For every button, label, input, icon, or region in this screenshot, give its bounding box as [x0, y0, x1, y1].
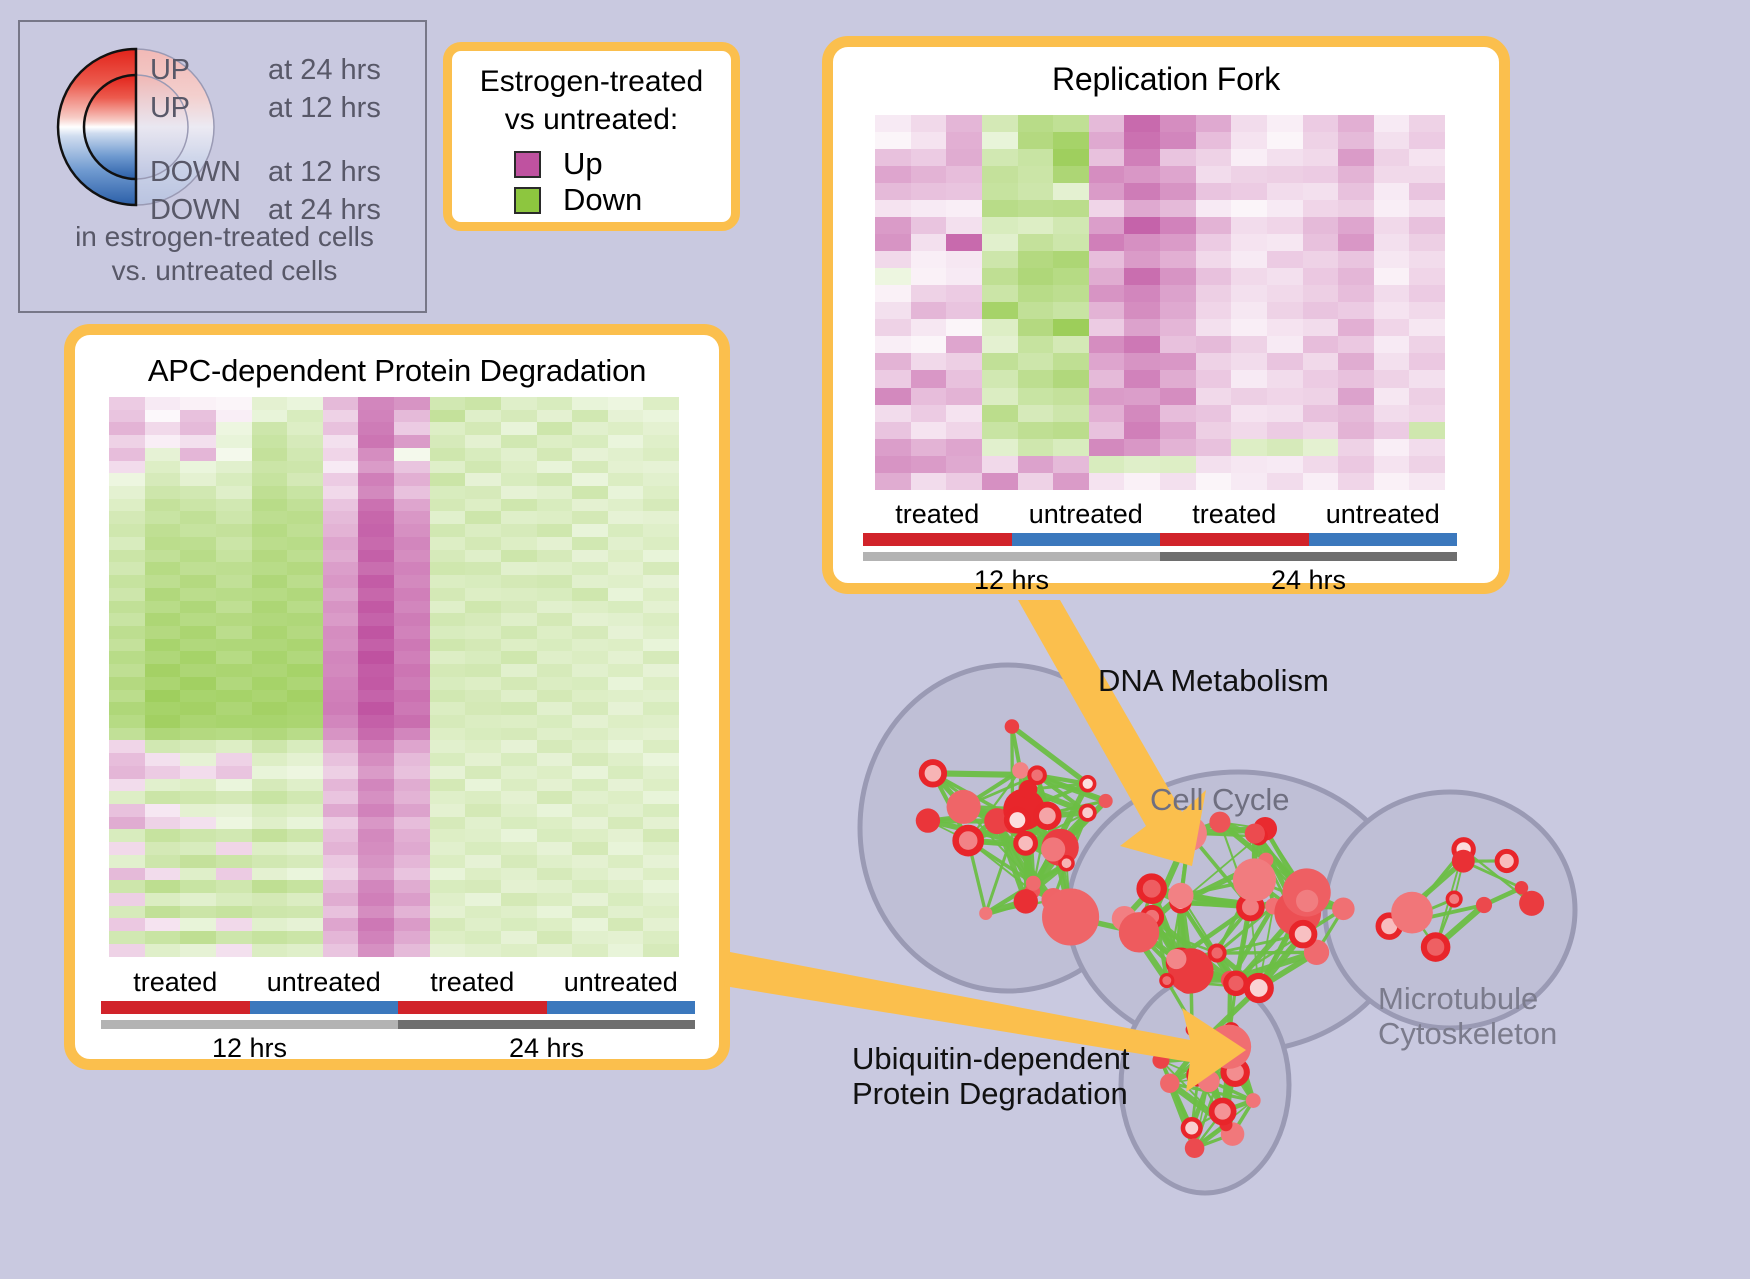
heatmap-cell	[1231, 149, 1267, 166]
heatmap-cell	[1196, 405, 1232, 422]
heatmap-cell	[465, 931, 501, 944]
heatmap-cell	[180, 486, 216, 499]
network-node[interactable]	[1296, 890, 1318, 912]
heatmap-cell	[1267, 353, 1303, 370]
network-node[interactable]	[1036, 805, 1059, 828]
heatmap-cell	[394, 918, 430, 931]
heatmap-cell	[252, 753, 288, 766]
heatmap-cell	[608, 626, 644, 639]
heatmap-cell	[911, 200, 947, 217]
heatmap-cell	[1303, 473, 1339, 490]
heatmap-cell	[430, 397, 466, 410]
heatmap-cell	[1374, 336, 1410, 353]
heatmap-cell	[109, 461, 145, 474]
down-swatch-icon	[514, 187, 541, 214]
heatmap-cell	[982, 268, 1018, 285]
heatmap-cell	[145, 461, 181, 474]
heatmap-cell	[982, 166, 1018, 183]
heatmap-column	[1196, 115, 1232, 490]
heatmap-cell	[946, 422, 982, 439]
heatmap-cell	[180, 906, 216, 919]
heatmap-cell	[465, 486, 501, 499]
network-node[interactable]	[1452, 850, 1475, 873]
heatmap-cell	[180, 918, 216, 931]
heatmap-cell	[323, 753, 359, 766]
heatmap-cell	[1267, 388, 1303, 405]
network-node[interactable]	[1081, 777, 1095, 791]
heatmap-cell	[643, 906, 679, 919]
heatmap-cell	[1089, 183, 1125, 200]
heatmap-cell	[1409, 388, 1445, 405]
network-node[interactable]	[1198, 1070, 1220, 1092]
heatmap-cell	[1338, 149, 1374, 166]
up-down-legend: Estrogen-treated vs untreated: Up Down	[443, 42, 740, 231]
network-node[interactable]	[1332, 898, 1355, 921]
heatmap-cell	[1124, 285, 1160, 302]
time-color-bar	[863, 552, 1457, 561]
heatmap-cell	[394, 868, 430, 881]
heatmap-cell	[465, 791, 501, 804]
heatmap-cell	[572, 473, 608, 486]
network-node[interactable]	[956, 828, 981, 853]
heatmap-cell	[216, 448, 252, 461]
heatmap-cell	[572, 829, 608, 842]
heatmap-cell	[1409, 319, 1445, 336]
network-node[interactable]	[1447, 892, 1461, 906]
heatmap-cell	[358, 537, 394, 550]
heatmap-cell	[572, 550, 608, 563]
heatmap-cell	[608, 855, 644, 868]
heatmap-cell	[394, 410, 430, 423]
heatmap-cell	[180, 753, 216, 766]
heatmap-cell	[216, 804, 252, 817]
group-color-bar	[101, 1001, 695, 1014]
heatmap-cell	[875, 319, 911, 336]
network-node[interactable]	[1140, 877, 1164, 901]
heatmap-cell	[216, 461, 252, 474]
heatmap-cell	[1231, 234, 1267, 251]
heatmap-cell	[1089, 251, 1125, 268]
heatmap-cell	[1303, 217, 1339, 234]
network-node[interactable]	[1519, 891, 1544, 916]
heatmap-cell	[911, 456, 947, 473]
heatmap-cell	[109, 766, 145, 779]
network-node[interactable]	[1014, 889, 1038, 913]
heatmap-cell	[394, 397, 430, 410]
network-node[interactable]	[1168, 883, 1194, 909]
network-node[interactable]	[1007, 809, 1028, 830]
heatmap-column	[1089, 115, 1125, 490]
heatmap-cell	[1303, 353, 1339, 370]
heatmap-cell	[875, 388, 911, 405]
heatmap-cell	[1409, 115, 1445, 132]
network-node[interactable]	[1026, 876, 1041, 891]
heatmap-cell	[1018, 370, 1054, 387]
network-node[interactable]	[922, 762, 944, 784]
heatmap-cell	[394, 791, 430, 804]
heatmap-cell	[946, 319, 982, 336]
group-color-segment	[398, 1001, 547, 1014]
heatmap-cell	[287, 562, 323, 575]
heatmap-cell	[911, 217, 947, 234]
heatmap-cell	[1267, 336, 1303, 353]
heatmap-cell	[537, 664, 573, 677]
heatmap-cell	[1267, 166, 1303, 183]
heatmap-column	[572, 397, 608, 957]
heatmap-cell	[1089, 336, 1125, 353]
heatmap-cell	[394, 715, 430, 728]
network-node[interactable]	[1186, 1023, 1199, 1036]
heatmap-cell	[946, 388, 982, 405]
heatmap-cell	[1196, 473, 1232, 490]
heatmap-cell	[608, 931, 644, 944]
network-node[interactable]	[1005, 719, 1020, 734]
network-node[interactable]	[1292, 923, 1315, 946]
heatmap-cell	[145, 868, 181, 881]
heatmap-cell	[1018, 302, 1054, 319]
heatmap-cell	[180, 880, 216, 893]
up-down-title-line1: Estrogen-treated	[452, 63, 731, 101]
network-node[interactable]	[1029, 767, 1045, 783]
heatmap-cell	[252, 575, 288, 588]
heatmap-cell	[537, 817, 573, 830]
heatmap-cell	[1018, 115, 1054, 132]
heatmap-cell	[109, 829, 145, 842]
network-node[interactable]	[1171, 816, 1206, 851]
heatmap-cell	[252, 550, 288, 563]
heatmap-cell	[537, 791, 573, 804]
network-node[interactable]	[1160, 1074, 1179, 1093]
heatmap-cell	[643, 893, 679, 906]
network-node[interactable]	[1476, 897, 1492, 913]
heatmap-column	[1160, 115, 1196, 490]
heatmap-cell	[1018, 285, 1054, 302]
network-node[interactable]	[1099, 794, 1113, 808]
heatmap-cell	[465, 511, 501, 524]
heatmap-cell	[875, 456, 911, 473]
heatmap-cell	[1018, 200, 1054, 217]
heatmap-cell	[1089, 302, 1125, 319]
heatmap-cell	[572, 779, 608, 792]
heatmap-cell	[358, 906, 394, 919]
heatmap-cell	[1018, 183, 1054, 200]
heatmap-cell	[1018, 217, 1054, 234]
network-node[interactable]	[1246, 1093, 1261, 1108]
heatmap-cell	[608, 601, 644, 614]
network-node[interactable]	[1226, 973, 1246, 993]
heatmap-cell	[608, 804, 644, 817]
heatmap-cell	[109, 753, 145, 766]
heatmap-cell	[946, 166, 982, 183]
network-node[interactable]	[1166, 949, 1186, 969]
wheel-row-key: UP	[150, 54, 268, 87]
heatmap-cell	[1160, 217, 1196, 234]
network-node[interactable]	[1210, 945, 1225, 960]
heatmap-cell	[1160, 473, 1196, 490]
heatmap-cell	[180, 702, 216, 715]
heatmap-cell	[465, 766, 501, 779]
heatmap-cell	[501, 397, 537, 410]
heatmap-cell	[252, 410, 288, 423]
heatmap-cell	[608, 651, 644, 664]
heatmap-cell	[394, 728, 430, 741]
heatmap-cell	[180, 740, 216, 753]
network-node[interactable]	[1497, 851, 1516, 870]
heatmap-cell	[358, 804, 394, 817]
heatmap-cell	[1124, 319, 1160, 336]
heatmap-cell	[537, 486, 573, 499]
heatmap-cell	[1267, 473, 1303, 490]
network-node[interactable]	[1060, 857, 1073, 870]
network-node[interactable]	[1041, 837, 1065, 861]
heatmap-cell	[501, 448, 537, 461]
heatmap-cell	[394, 664, 430, 677]
heatmap-cell	[145, 410, 181, 423]
group-label: treated	[1160, 497, 1309, 531]
heatmap-cell	[643, 486, 679, 499]
heatmap-cell	[252, 944, 288, 957]
heatmap-cell	[323, 461, 359, 474]
heatmap-cell	[252, 626, 288, 639]
heatmap-cell	[430, 461, 466, 474]
heatmap-cell	[982, 115, 1018, 132]
cluster-label-microtubule-cytoskeleton: Microtubule Cytoskeleton	[1378, 982, 1557, 1051]
heatmap-cell	[982, 183, 1018, 200]
heatmap-cell	[394, 651, 430, 664]
heatmap-cell	[572, 601, 608, 614]
time-label: 12 hrs	[101, 1033, 398, 1064]
heatmap-cell	[643, 448, 679, 461]
network-node[interactable]	[1424, 935, 1447, 958]
network-node[interactable]	[1185, 1138, 1205, 1158]
heatmap-cell	[465, 562, 501, 575]
heatmap-cell	[572, 639, 608, 652]
heatmap-cell	[608, 740, 644, 753]
heatmap-cell	[109, 613, 145, 626]
heatmap-cell	[252, 855, 288, 868]
heatmap-cell	[1089, 149, 1125, 166]
heatmap-cell	[501, 791, 537, 804]
heatmap-cell	[323, 715, 359, 728]
heatmap-cell	[323, 779, 359, 792]
network-node[interactable]	[1247, 976, 1271, 1000]
heatmap-cell	[180, 677, 216, 690]
heatmap-cell	[216, 868, 252, 881]
network-node[interactable]	[1080, 805, 1094, 819]
heatmap-cell	[465, 651, 501, 664]
heatmap-cell	[394, 499, 430, 512]
heatmap-cell	[109, 906, 145, 919]
network-node[interactable]	[1161, 975, 1173, 987]
heatmap-cell	[394, 486, 430, 499]
heatmap-cell	[982, 336, 1018, 353]
network-node[interactable]	[1245, 823, 1265, 843]
heatmap-cell	[394, 804, 430, 817]
heatmap-cell	[216, 550, 252, 563]
heatmap-cell	[465, 868, 501, 881]
heatmap-cell	[323, 868, 359, 881]
time-color-segment	[101, 1020, 398, 1029]
heatmap-cell	[430, 690, 466, 703]
network-node[interactable]	[1207, 1025, 1251, 1069]
heatmap-cell	[1124, 149, 1160, 166]
heatmap-cell	[537, 499, 573, 512]
heatmap-cell	[323, 829, 359, 842]
heatmap-cell	[287, 601, 323, 614]
time-color-segment	[1160, 552, 1457, 561]
heatmap-cell	[252, 435, 288, 448]
heatmap-cell	[180, 537, 216, 550]
heatmap-cell	[608, 422, 644, 435]
heatmap-cell	[572, 397, 608, 410]
heatmap-cell	[1409, 422, 1445, 439]
heatmap-cell	[216, 422, 252, 435]
heatmap-cell	[1338, 285, 1374, 302]
heatmap-cell	[1374, 353, 1410, 370]
network-node[interactable]	[1152, 1052, 1169, 1069]
heatmap-cell	[287, 690, 323, 703]
heatmap-cell	[465, 677, 501, 690]
heatmap-cell	[358, 651, 394, 664]
network-node[interactable]	[1391, 892, 1433, 934]
network-node[interactable]	[1119, 912, 1159, 952]
network-node[interactable]	[1183, 1119, 1201, 1137]
heatmap-cell	[252, 842, 288, 855]
heatmap-cell	[145, 601, 181, 614]
heatmap-cell	[216, 753, 252, 766]
heatmap-cell	[572, 740, 608, 753]
heatmap-cell	[465, 944, 501, 957]
heatmap-cell	[501, 893, 537, 906]
heatmap-cell	[323, 601, 359, 614]
cluster-label-cell-cycle: Cell Cycle	[1150, 783, 1290, 818]
heatmap-cell	[1267, 302, 1303, 319]
heatmap-cell	[911, 268, 947, 285]
heatmap-cell	[323, 639, 359, 652]
heatmap-cell	[608, 829, 644, 842]
heatmap-cell	[537, 613, 573, 626]
heatmap-cell	[537, 448, 573, 461]
heatmap-cell	[875, 268, 911, 285]
heatmap-cell	[287, 944, 323, 957]
heatmap-cell	[145, 397, 181, 410]
heatmap-cell	[430, 791, 466, 804]
heatmap-cell	[287, 893, 323, 906]
heatmap-cell	[608, 537, 644, 550]
heatmap-cell	[1303, 319, 1339, 336]
heatmap-cell	[180, 524, 216, 537]
heatmap-cell	[982, 388, 1018, 405]
heatmap-cell	[875, 200, 911, 217]
heatmap-cell	[572, 448, 608, 461]
heatmap-cell	[287, 918, 323, 931]
heatmap-cell	[145, 588, 181, 601]
heatmap-cell	[501, 651, 537, 664]
heatmap-cell	[946, 149, 982, 166]
heatmap-cell	[537, 397, 573, 410]
network-node[interactable]	[916, 808, 940, 832]
heatmap-cell	[537, 435, 573, 448]
network-node[interactable]	[1233, 858, 1276, 901]
heatmap-cell	[358, 626, 394, 639]
heatmap-cell	[1374, 439, 1410, 456]
heatmap-cell	[1196, 166, 1232, 183]
heatmap-cell	[911, 422, 947, 439]
panel-apc-degradation: APC-dependent Protein Degradation treate…	[64, 324, 730, 1070]
heatmap-cell	[145, 499, 181, 512]
network-node[interactable]	[1016, 833, 1036, 853]
heatmap-cell	[465, 664, 501, 677]
heatmap-cell	[180, 410, 216, 423]
cluster-label-dna-metabolism: DNA Metabolism	[1098, 664, 1329, 699]
heatmap-cell	[537, 524, 573, 537]
heatmap-cell	[1303, 200, 1339, 217]
heatmap-cell	[1018, 166, 1054, 183]
heatmap-cell	[430, 588, 466, 601]
heatmap-cell	[1338, 132, 1374, 149]
heatmap-cell	[180, 766, 216, 779]
network-node[interactable]	[1012, 762, 1029, 779]
network-node[interactable]	[947, 790, 981, 824]
heatmap-cell	[358, 702, 394, 715]
group-color-bar	[863, 533, 1457, 546]
heatmap-cell	[1231, 473, 1267, 490]
heatmap-cell	[465, 906, 501, 919]
heatmap-cell	[572, 562, 608, 575]
heatmap-cell	[1231, 302, 1267, 319]
heatmap-cell	[252, 511, 288, 524]
heatmap-cell	[1053, 422, 1089, 439]
heatmap-cell	[911, 166, 947, 183]
network-node[interactable]	[979, 907, 992, 920]
heatmap-cell	[145, 435, 181, 448]
heatmap-cell	[1338, 456, 1374, 473]
heatmap-cell	[430, 499, 466, 512]
heatmap-cell	[252, 740, 288, 753]
heatmap-cell	[875, 166, 911, 183]
heatmap-cell	[1196, 456, 1232, 473]
wheel-row: DOWN at 12 hrs	[150, 156, 430, 194]
up-label: Up	[563, 146, 603, 182]
heatmap-cell	[145, 791, 181, 804]
heatmap-cell	[572, 817, 608, 830]
heatmap-cell	[252, 728, 288, 741]
heatmap-cell	[1089, 473, 1125, 490]
heatmap-cell	[608, 562, 644, 575]
heatmap-cell	[875, 439, 911, 456]
heatmap-cell	[145, 422, 181, 435]
heatmap-cell	[358, 690, 394, 703]
heatmap-cell	[1053, 302, 1089, 319]
network-node[interactable]	[1042, 888, 1099, 945]
wheel-row-value: at 24 hrs	[268, 54, 381, 87]
heatmap-cell	[537, 626, 573, 639]
heatmap-cell	[1231, 336, 1267, 353]
heatmap-cell	[109, 410, 145, 423]
heatmap-cell	[572, 715, 608, 728]
network-node[interactable]	[1212, 1100, 1234, 1122]
heatmap-cell	[216, 601, 252, 614]
heatmap-cell	[643, 511, 679, 524]
heatmap-cell	[430, 715, 466, 728]
heatmap-cell	[323, 550, 359, 563]
wheel-row-key: DOWN	[150, 156, 268, 189]
heatmap-cell	[252, 473, 288, 486]
heatmap-cell	[109, 397, 145, 410]
heatmap-cell	[430, 422, 466, 435]
heatmap-cell	[875, 422, 911, 439]
heatmap-cell	[1409, 285, 1445, 302]
